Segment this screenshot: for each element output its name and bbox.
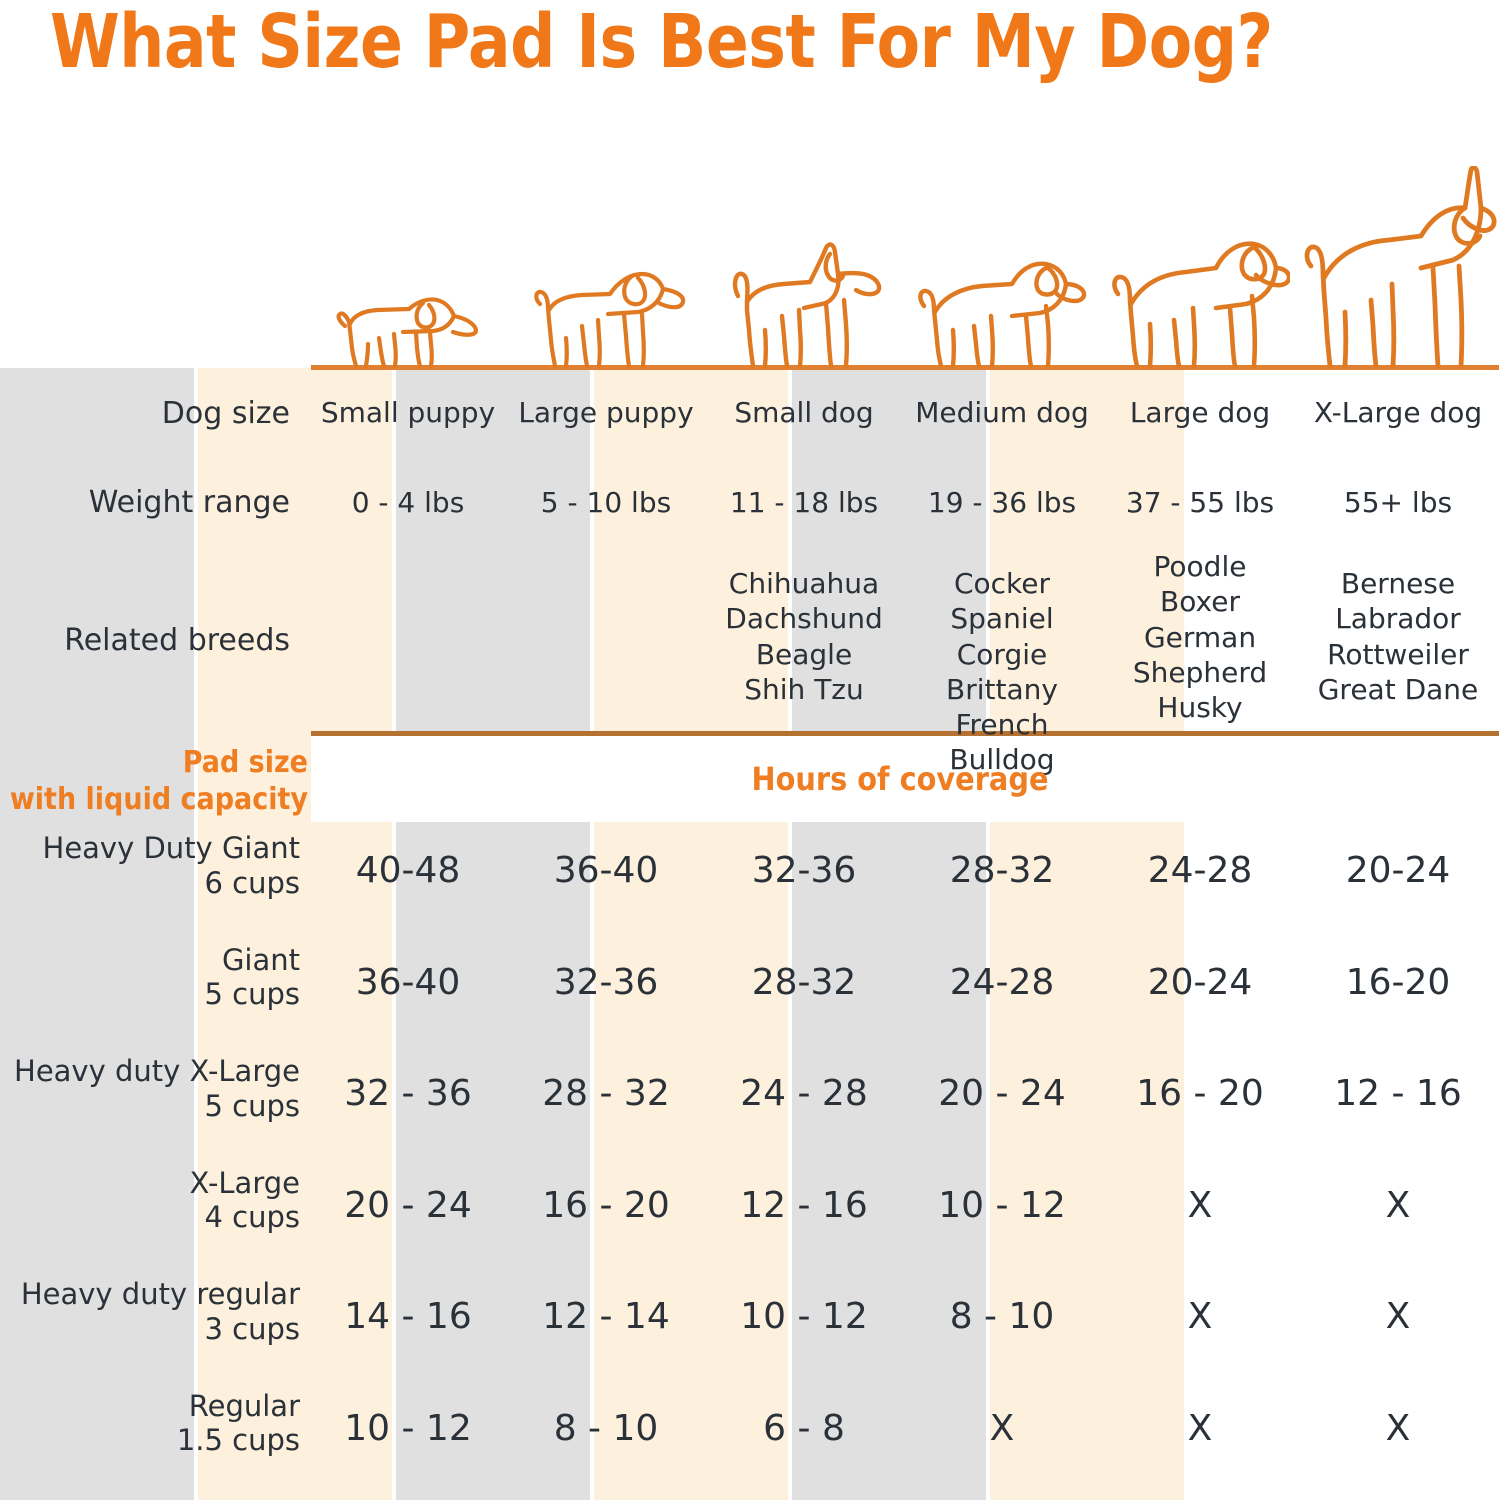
pad-size-heading-line2: with liquid capacity <box>10 782 308 817</box>
row-label-related-breeds: Related breeds <box>0 623 290 658</box>
pad-cell-r3-c5: 16 - 20 <box>1103 1072 1297 1116</box>
breed-item: Rottweiler <box>1301 637 1495 672</box>
pad-cell-r2-c4: 24-28 <box>905 961 1099 1005</box>
breed-item: Shepherd <box>1103 655 1297 690</box>
cell-breeds-6: BerneseLabradorRottweilerGreat Dane <box>1301 566 1495 707</box>
dog-large-puppy-cell <box>507 258 705 368</box>
pad-row-capacity: 1.5 cups <box>0 1423 300 1458</box>
pad-row-label-2: Giant5 cups <box>0 943 300 1013</box>
pad-row-name: X-Large <box>0 1166 300 1201</box>
cell-dog-size-2: Large puppy <box>509 396 703 430</box>
pad-size-heading: Pad size with liquid capacity <box>0 745 308 818</box>
pad-cell-r4-c4: 10 - 12 <box>905 1184 1099 1228</box>
dog-small-puppy-cell <box>311 278 507 368</box>
pad-row-capacity: 4 cups <box>0 1200 300 1235</box>
dog-medium-cell <box>903 248 1101 368</box>
pad-row-name: Heavy duty X-Large <box>0 1054 300 1089</box>
breed-item: Poodle <box>1103 549 1297 584</box>
dog-large-cell <box>1101 230 1299 368</box>
pad-row-name: Heavy duty regular <box>0 1277 300 1312</box>
breed-item: Cocker Spaniel <box>905 566 1099 637</box>
cell-weight-range-4: 19 - 36 lbs <box>905 486 1099 520</box>
breed-item: Corgie <box>905 637 1099 672</box>
pad-row-label-5: Heavy duty regular3 cups <box>0 1277 300 1347</box>
cell-dog-size-3: Small dog <box>707 396 901 430</box>
row-label-dog-size: Dog size <box>0 396 290 431</box>
pad-cell-r6-c5: X <box>1103 1407 1297 1451</box>
dog-silhouette-row <box>311 150 1499 368</box>
dog-small-cell <box>705 240 903 368</box>
dog-xlarge-cell <box>1299 166 1499 368</box>
pad-row-capacity: 3 cups <box>0 1312 300 1347</box>
pad-cell-r2-c5: 20-24 <box>1103 961 1297 1005</box>
cell-dog-size-4: Medium dog <box>905 396 1099 430</box>
cell-weight-range-6: 55+ lbs <box>1301 486 1495 520</box>
pad-cell-r4-c2: 16 - 20 <box>509 1184 703 1228</box>
cell-dog-size-1: Small puppy <box>311 396 505 430</box>
breed-item: Shih Tzu <box>707 672 901 707</box>
breed-item: Great Dane <box>1301 672 1495 707</box>
row-label-weight-range: Weight range <box>0 485 290 520</box>
hours-of-coverage-heading: Hours of coverage <box>640 760 1160 798</box>
pad-cell-r5-c1: 14 - 16 <box>311 1295 505 1339</box>
pad-row-label-1: Heavy Duty Giant6 cups <box>0 831 300 901</box>
breed-item: Beagle <box>707 637 901 672</box>
pad-cell-r3-c3: 24 - 28 <box>707 1072 901 1116</box>
pad-cell-r5-c4: 8 - 10 <box>905 1295 1099 1339</box>
pad-row-label-6: Regular1.5 cups <box>0 1389 300 1459</box>
dog-small-icon <box>722 240 887 368</box>
pad-row-label-3: Heavy duty X-Large5 cups <box>0 1054 300 1124</box>
breed-item: Brittany <box>905 672 1099 707</box>
pad-cell-r3-c1: 32 - 36 <box>311 1072 505 1116</box>
pad-cell-r1-c1: 40-48 <box>311 849 505 893</box>
puppy-large-icon <box>526 258 686 368</box>
cell-breeds-3: ChihuahuaDachshundBeagleShih Tzu <box>707 566 901 707</box>
pad-cell-r5-c5: X <box>1103 1295 1297 1339</box>
cell-dog-size-5: Large dog <box>1103 396 1297 430</box>
cell-weight-range-5: 37 - 55 lbs <box>1103 486 1297 520</box>
breed-item: Boxer <box>1103 584 1297 619</box>
pad-cell-r4-c3: 12 - 16 <box>707 1184 901 1228</box>
pad-cell-r1-c3: 32-36 <box>707 849 901 893</box>
cell-breeds-5: PoodleBoxerGermanShepherdHusky <box>1103 549 1297 725</box>
pad-cell-r6-c1: 10 - 12 <box>311 1407 505 1451</box>
cell-breeds-4: Cocker SpanielCorgieBrittanyFrench Bulld… <box>905 566 1099 778</box>
pad-cell-r3-c6: 12 - 16 <box>1301 1072 1495 1116</box>
infographic-page: What Size Pad Is Best For My Dog? <box>0 0 1499 1500</box>
pad-cell-r5-c6: X <box>1301 1295 1495 1339</box>
pad-cell-r1-c4: 28-32 <box>905 849 1099 893</box>
pad-row-name: Regular <box>0 1389 300 1424</box>
dog-large-icon <box>1110 230 1290 368</box>
breed-item: Labrador <box>1301 601 1495 636</box>
pad-cell-r6-c3: 6 - 8 <box>707 1407 901 1451</box>
pad-cell-r3-c4: 20 - 24 <box>905 1072 1099 1116</box>
cell-weight-range-2: 5 - 10 lbs <box>509 486 703 520</box>
pad-cell-r4-c1: 20 - 24 <box>311 1184 505 1228</box>
pad-size-heading-line1: Pad size <box>183 745 308 780</box>
pad-cell-r1-c5: 24-28 <box>1103 849 1297 893</box>
pad-row-name: Giant <box>0 943 300 978</box>
pad-cell-r5-c3: 10 - 12 <box>707 1295 901 1339</box>
pad-cell-r6-c2: 8 - 10 <box>509 1407 703 1451</box>
pad-cell-r6-c4: X <box>905 1407 1099 1451</box>
breed-item: Chihuahua <box>707 566 901 601</box>
breed-item: Dachshund <box>707 601 901 636</box>
pad-cell-r6-c6: X <box>1301 1407 1495 1451</box>
pad-row-capacity: 5 cups <box>0 1089 300 1124</box>
puppy-small-icon <box>333 278 485 368</box>
cell-weight-range-1: 0 - 4 lbs <box>311 486 505 520</box>
breed-item: German <box>1103 620 1297 655</box>
pad-cell-r2-c6: 16-20 <box>1301 961 1495 1005</box>
cell-dog-size-6: X-Large dog <box>1301 396 1495 430</box>
pad-cell-r1-c2: 36-40 <box>509 849 703 893</box>
pad-cell-r2-c2: 32-36 <box>509 961 703 1005</box>
pad-cell-r2-c1: 36-40 <box>311 961 505 1005</box>
pad-row-name: Heavy Duty Giant <box>0 831 300 866</box>
pad-cell-r4-c5: X <box>1103 1184 1297 1228</box>
dog-medium-icon <box>916 248 1088 368</box>
breed-item: Husky <box>1103 690 1297 725</box>
pad-cell-r5-c2: 12 - 14 <box>509 1295 703 1339</box>
page-title: What Size Pad Is Best For My Dog? <box>50 4 1399 82</box>
pad-row-label-4: X-Large4 cups <box>0 1166 300 1236</box>
pad-row-capacity: 5 cups <box>0 977 300 1012</box>
breed-item: Bernese <box>1301 566 1495 601</box>
dog-xlarge-icon <box>1301 166 1497 368</box>
pad-cell-r2-c3: 28-32 <box>707 961 901 1005</box>
pad-cell-r1-c6: 20-24 <box>1301 849 1495 893</box>
cell-weight-range-3: 11 - 18 lbs <box>707 486 901 520</box>
pad-cell-r3-c2: 28 - 32 <box>509 1072 703 1116</box>
pad-cell-r4-c6: X <box>1301 1184 1495 1228</box>
pad-row-capacity: 6 cups <box>0 866 300 901</box>
